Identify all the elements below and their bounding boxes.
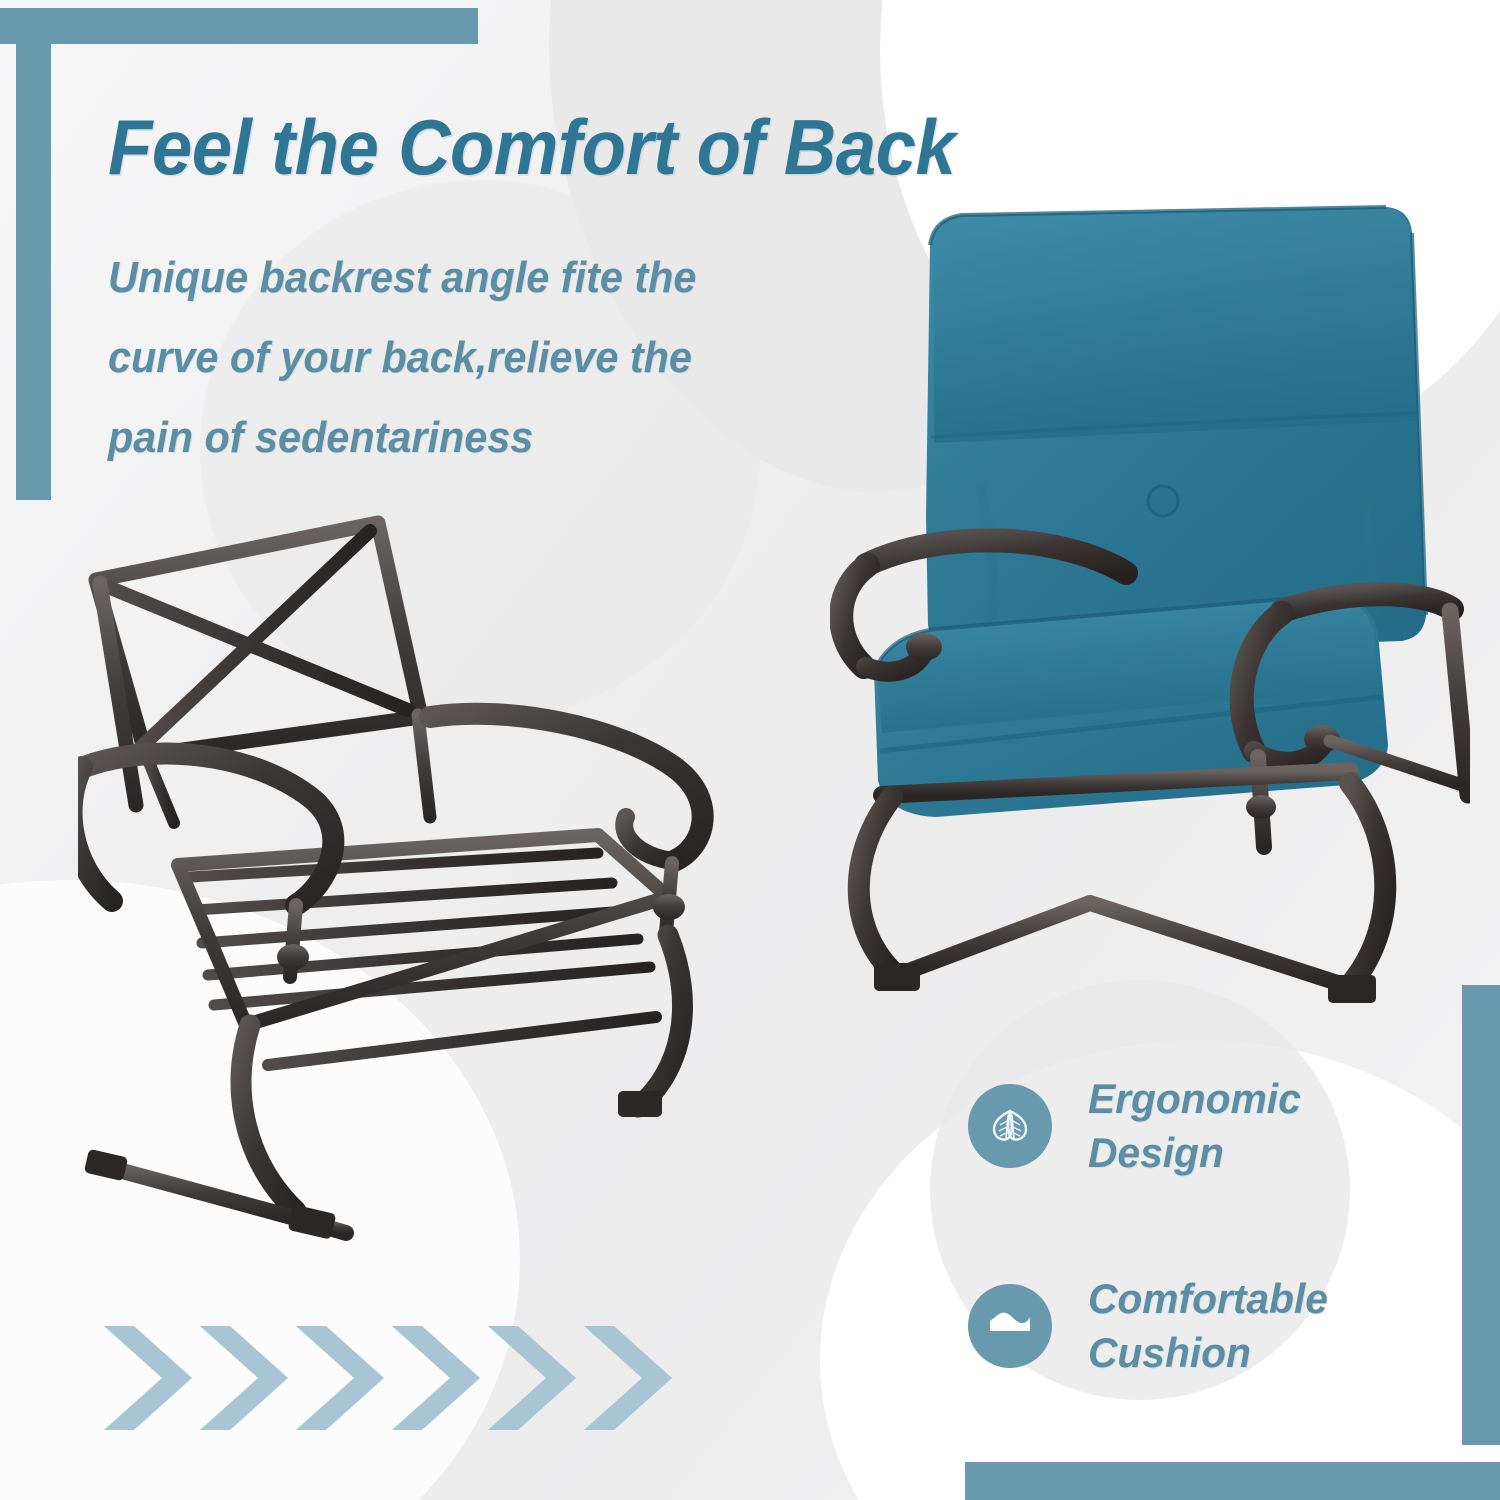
frame-bottom-right-horizontal: [965, 1462, 1500, 1500]
feature-badge-circle: [968, 1284, 1052, 1368]
subtitle-line-2: curve of your back,relieve the: [108, 318, 696, 398]
feature-comfortable-cushion: Comfortable Cushion: [968, 1272, 1335, 1380]
leaf-icon: [982, 1095, 1038, 1156]
chair-frame-left: [78, 505, 738, 1295]
feature-label: Ergonomic Design: [1088, 1072, 1301, 1180]
feature-label: Comfortable Cushion: [1088, 1272, 1328, 1380]
forward-chevrons: [100, 1322, 700, 1434]
frame-top-left-vertical: [16, 8, 51, 500]
subtitle: Unique backrest angle fite the curve of …: [108, 238, 696, 478]
product-infographic: Feel the Comfort of Back Unique backrest…: [0, 0, 1500, 1500]
chevron-right-icon: [484, 1322, 584, 1434]
chevron-right-icon: [292, 1322, 392, 1434]
feature-label-line-2: Design: [1088, 1126, 1301, 1180]
subtitle-line-3: pain of sedentariness: [108, 398, 696, 478]
chevron-right-icon: [196, 1322, 296, 1434]
chevron-right-icon: [580, 1322, 680, 1434]
chevron-right-icon: [388, 1322, 488, 1434]
chair-cushioned-right: [830, 185, 1470, 1060]
page-title: Feel the Comfort of Back: [108, 108, 955, 188]
subtitle-line-1: Unique backrest angle fite the: [108, 238, 696, 318]
chevron-right-icon: [100, 1322, 200, 1434]
frame-top-left-horizontal: [0, 8, 478, 44]
feature-label-line-2: Cushion: [1088, 1326, 1328, 1380]
feature-badge-circle: [968, 1084, 1052, 1168]
feature-label-line-1: Ergonomic: [1088, 1072, 1301, 1126]
feature-label-line-1: Comfortable: [1088, 1272, 1328, 1326]
cushion-icon: [982, 1295, 1038, 1356]
feature-ergonomic-design: Ergonomic Design: [968, 1072, 1307, 1180]
